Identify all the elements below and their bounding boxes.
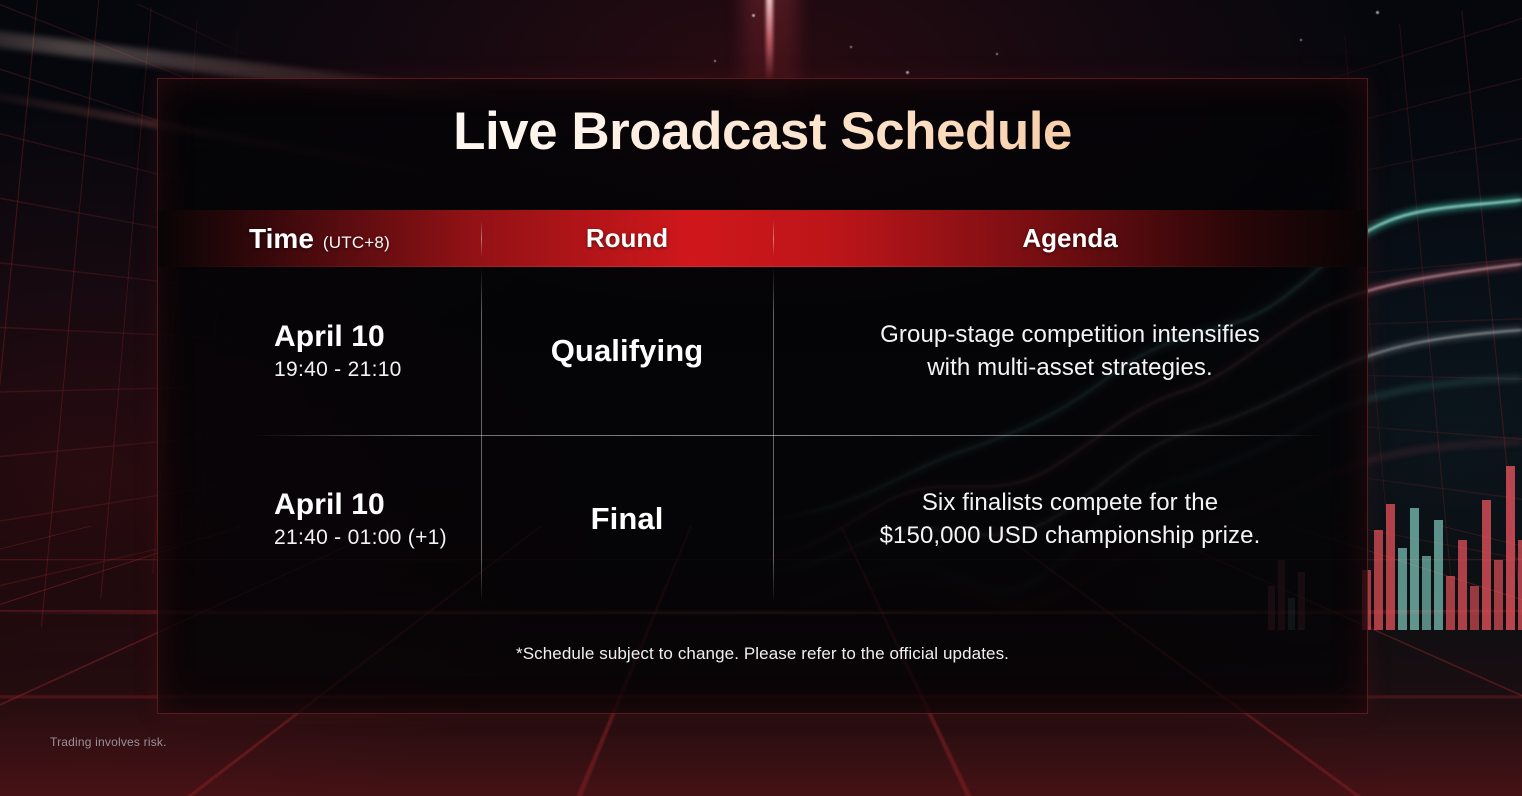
- header-divider-2: [773, 220, 774, 257]
- row-date: April 10: [274, 320, 481, 354]
- cell-agenda: Six finalists compete for the $150,000 U…: [773, 486, 1367, 552]
- column-header-round: Round: [481, 223, 773, 254]
- column-header-time-label: Time: [249, 223, 314, 255]
- column-divider-2: [773, 267, 774, 603]
- risk-disclaimer: Trading involves risk.: [50, 735, 167, 749]
- row-time-range: 19:40 - 21:10: [274, 358, 481, 382]
- column-header-round-label: Round: [586, 223, 668, 254]
- column-divider-1: [481, 267, 482, 603]
- cell-round: Qualifying: [481, 333, 773, 369]
- cell-time: April 10 19:40 - 21:10: [158, 320, 481, 383]
- row-round: Qualifying: [481, 333, 773, 369]
- row-agenda-line-2: with multi-asset strategies.: [797, 351, 1343, 384]
- star-speck: [1376, 11, 1379, 14]
- star-speck: [752, 14, 755, 17]
- table-body: April 10 19:40 - 21:10 Qualifying Group-…: [158, 267, 1367, 603]
- schedule-panel: Live Broadcast Schedule Time (UTC+8) Rou…: [157, 78, 1368, 714]
- star-speck: [1300, 39, 1302, 41]
- column-header-time: Time (UTC+8): [158, 223, 481, 255]
- row-round: Final: [481, 501, 773, 537]
- row-agenda-line-1: Six finalists compete for the: [797, 486, 1343, 519]
- star-speck: [906, 71, 909, 74]
- row-agenda-line-1: Group-stage competition intensifies: [797, 318, 1343, 351]
- table-row: April 10 21:40 - 01:00 (+1) Final Six fi…: [158, 435, 1367, 603]
- cell-time: April 10 21:40 - 01:00 (+1): [158, 488, 481, 551]
- table-header-row: Time (UTC+8) Round Agenda: [158, 210, 1367, 267]
- row-date: April 10: [274, 488, 481, 522]
- light-beam-icon: [766, 0, 773, 82]
- column-header-agenda: Agenda: [773, 223, 1367, 254]
- schedule-poster: Live Broadcast Schedule Time (UTC+8) Rou…: [0, 0, 1522, 796]
- star-speck: [996, 53, 998, 55]
- row-time-range: 21:40 - 01:00 (+1): [274, 526, 481, 550]
- header-divider-1: [481, 220, 482, 257]
- schedule-note: *Schedule subject to change. Please refe…: [158, 644, 1367, 664]
- row-divider: [251, 435, 1324, 436]
- cell-round: Final: [481, 501, 773, 537]
- page-title: Live Broadcast Schedule: [158, 101, 1367, 162]
- star-speck: [850, 46, 852, 48]
- column-header-agenda-label: Agenda: [1022, 223, 1117, 254]
- row-agenda-line-2: $150,000 USD championship prize.: [797, 519, 1343, 552]
- star-speck: [714, 60, 716, 62]
- table-row: April 10 19:40 - 21:10 Qualifying Group-…: [158, 267, 1367, 435]
- cell-agenda: Group-stage competition intensifies with…: [773, 318, 1367, 384]
- column-header-time-sublabel: (UTC+8): [323, 233, 390, 253]
